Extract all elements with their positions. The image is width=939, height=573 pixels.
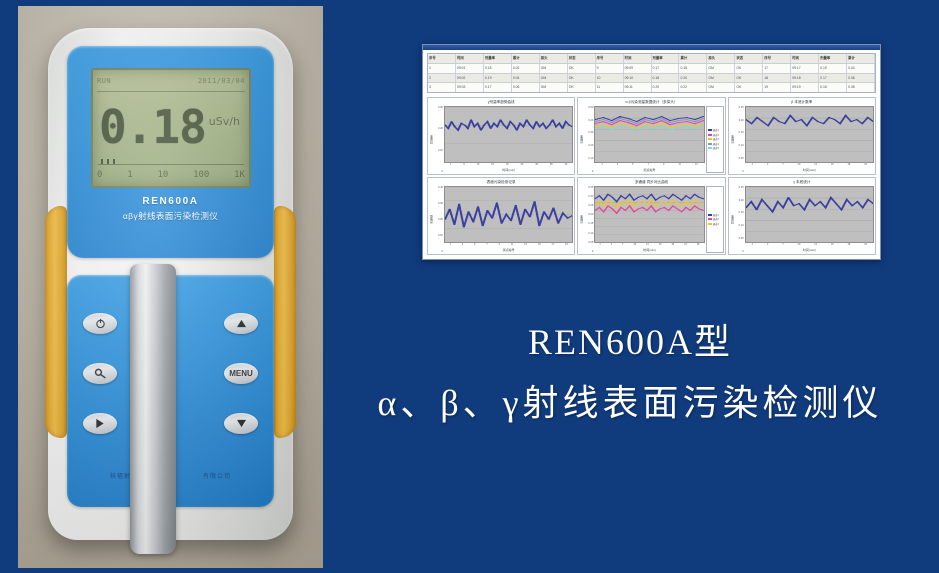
chart-legend: 通道1通道2通道3: [706, 186, 724, 253]
power-icon: [95, 318, 106, 329]
lcd-status-left: RUN: [97, 77, 111, 85]
lcd-bargraph: [98, 160, 244, 165]
table-cell: 9: [596, 64, 624, 73]
legend-item: 通道2: [708, 217, 722, 221]
chart-title: γ剂量率趋势曲线: [429, 99, 573, 106]
table-header-cell: 序号: [763, 54, 791, 63]
chart-y-ticks: 0.300.200.100: [434, 106, 444, 173]
table-cell: 0.02: [512, 64, 540, 73]
legend-label: 通道2: [713, 217, 719, 221]
table-cell: 0.19: [819, 64, 847, 73]
table-cell: 1: [428, 64, 456, 73]
table-cell: GM: [540, 83, 568, 92]
table-cell: 0.20: [679, 74, 707, 83]
search-button[interactable]: [83, 363, 117, 384]
legend-swatch: [708, 218, 712, 220]
chart-plot-area: [594, 106, 704, 163]
chart-y-ticks: 0.350.300.250.200.150.100.050: [584, 186, 594, 253]
table-header-cell: 累计: [512, 54, 540, 63]
table-cell: 09:01: [456, 64, 484, 73]
chart-y-ticks: 0.500.400.300.200.100: [584, 106, 594, 173]
lcd-scale-tick: 100: [193, 170, 209, 180]
chart-y-tick: 0.50: [584, 106, 593, 109]
chart-y-tick: 0.10: [584, 157, 593, 160]
device-model-name: REN600A: [67, 196, 274, 207]
chart-y-tick: 0: [584, 250, 593, 253]
chart-y-tick: 0.30: [584, 195, 593, 198]
table-header-cell: 状态: [568, 54, 596, 63]
table-cell: 09:18: [791, 74, 819, 83]
table-header-cell: 剂量率: [819, 54, 847, 63]
table-row: 309:030.170.06GMOK1109:110.200.22GMOK190…: [428, 83, 875, 92]
table-cell: 11: [596, 83, 624, 92]
triangle-up-icon: [236, 319, 247, 328]
table-cell: 0.18: [652, 74, 680, 83]
chart-y-tick: 0.20: [434, 127, 443, 130]
chart-y-tick: 0.10: [434, 149, 443, 152]
device-body: RUN 2011/03/04 0.18 uSv/h 0: [48, 28, 293, 540]
table-header-cell: 剂量率: [652, 54, 680, 63]
caption-line-model: REN600A型: [330, 320, 930, 365]
chart-y-ticks: 0.250.200.150.100.050: [735, 186, 745, 253]
table-cell: OK: [568, 64, 596, 73]
table-cell: 09:02: [456, 74, 484, 83]
legend-swatch: [708, 134, 712, 136]
chart-title: 表面污染检测记录: [429, 179, 573, 186]
chart-grid: γ剂量率趋势曲线剂量率0.300.200.1001510152025303540…: [423, 95, 880, 259]
legend-label: 通道3: [713, 222, 719, 226]
legend-label: 通道5: [713, 146, 719, 150]
chart-y-tick: 0.05: [735, 157, 744, 160]
chart-y-tick: 0: [735, 170, 744, 173]
chart-plot-area: [745, 186, 874, 243]
chart-y-axis-label: 污染值: [429, 186, 434, 253]
table-cell: 0.18: [679, 64, 707, 73]
legend-item: 通道1: [708, 128, 722, 132]
table-cell: 09:09: [624, 64, 652, 73]
chart-y-tick: 0.20: [735, 119, 744, 122]
legend-label: 通道1: [713, 128, 719, 132]
table-cell: 0.17: [652, 64, 680, 73]
table-cell: 19: [763, 83, 791, 92]
table-header-cell: 序号: [428, 54, 456, 63]
table-header-row: 序号时间剂量率累计探头状态序号时间剂量率累计探头状态序号时间剂量率累计: [428, 54, 875, 64]
chart-panel: 多通道 同步对比曲线计数率0.350.300.250.200.150.100.0…: [577, 177, 725, 255]
table-header-cell: 探头: [540, 54, 568, 63]
chart-y-tick: 0.30: [584, 131, 593, 134]
product-photo: RUN 2011/03/04 0.18 uSv/h 0: [18, 6, 323, 568]
chart-y-tick: 0.40: [584, 119, 593, 122]
device-handle: [130, 264, 176, 554]
lcd-scale-tick: 0: [97, 170, 102, 180]
table-cell: 0.18: [819, 83, 847, 92]
table-cell: 0.38: [847, 83, 875, 92]
legend-label: 通道2: [713, 133, 719, 137]
power-button[interactable]: [83, 313, 117, 334]
chart-plot-area: [594, 186, 704, 243]
legend-item: 通道3: [708, 137, 722, 141]
chart-y-tick: 0.15: [735, 211, 744, 214]
table-header-cell: 累计: [679, 54, 707, 63]
table-header-cell: 状态: [735, 54, 763, 63]
chart-y-tick: 0.05: [735, 237, 744, 240]
chart-y-tick: 0.25: [735, 186, 744, 189]
chart-y-tick: 0: [584, 170, 593, 173]
play-button[interactable]: [83, 413, 117, 434]
chart-y-tick: 0: [735, 250, 744, 253]
triangle-right-icon: [95, 418, 105, 429]
table-cell: OK: [568, 74, 596, 83]
table-header-cell: 时间: [456, 54, 484, 63]
legend-label: 通道4: [713, 142, 719, 146]
legend-swatch: [708, 138, 712, 140]
legend-label: 通道1: [713, 213, 719, 217]
legend-swatch: [708, 214, 712, 216]
legend-swatch: [708, 143, 712, 145]
magnifier-icon: [94, 368, 107, 379]
lcd-divider: [97, 91, 245, 92]
legend-item: 通道1: [708, 213, 722, 217]
chart-y-tick: 0.25: [584, 204, 593, 207]
legend-swatch: [708, 147, 712, 149]
legend-item: 通道4: [708, 142, 722, 146]
table-cell: GM: [540, 64, 568, 73]
legend-item: 通道3: [708, 222, 722, 226]
chart-y-tick: 0: [434, 250, 443, 253]
table-cell: OK: [735, 74, 763, 83]
caption-block: REN600A型 α、β、γ射线表面污染检测仪: [330, 320, 930, 428]
device-grip-left: [45, 206, 67, 438]
legend-swatch: [708, 129, 712, 131]
chart-y-tick: 0.20: [584, 144, 593, 147]
chart-y-ticks: 0.250.200.150.100.050: [735, 106, 745, 173]
table-header-cell: 时间: [624, 54, 652, 63]
lcd-unit: uSv/h: [209, 115, 240, 128]
table-cell: 09:19: [791, 83, 819, 92]
chart-y-tick: 0.05: [584, 241, 593, 244]
chart-panel: γ剂量率趋势曲线剂量率0.300.200.1001510152025303540…: [427, 97, 575, 175]
chart-y-tick: 0.20: [434, 218, 443, 221]
table-cell: 0.17: [484, 83, 512, 92]
table-cell: 0.19: [484, 74, 512, 83]
chart-x-axis-label: 时间(min): [745, 248, 874, 253]
table-header-cell: 时间: [791, 54, 819, 63]
table-cell: 09:10: [624, 74, 652, 83]
table-cell: OK: [735, 64, 763, 73]
slide-root: RUN 2011/03/04 0.18 uSv/h 0: [0, 0, 939, 573]
table-row: 209:020.190.04GMOK1009:100.180.20GMOK180…: [428, 74, 875, 84]
table-cell: GM: [540, 74, 568, 83]
chart-x-axis-label: 时间(min): [444, 168, 573, 173]
chart-panel: α β污染测量数据统计（多探头）计数率0.500.400.300.200.100…: [577, 97, 725, 175]
chart-plot-area: [745, 106, 874, 163]
chart-y-tick: 0.30: [434, 202, 443, 205]
table-cell: OK: [735, 83, 763, 92]
table-cell: 18: [763, 74, 791, 83]
chart-y-axis-label: 剂量率: [429, 106, 434, 173]
chart-x-axis-label: 测点编号: [594, 168, 704, 173]
chart-y-tick: 0.20: [735, 199, 744, 202]
table-cell: 0.04: [512, 74, 540, 83]
chart-y-tick: 0.25: [735, 106, 744, 109]
lcd-reading: 0.18 uSv/h: [99, 96, 245, 158]
chart-y-ticks: 0.400.300.200.100: [434, 186, 444, 253]
chart-plot-area: [444, 186, 573, 243]
table-header-cell: 累计: [847, 54, 875, 63]
chart-y-axis-label: 计数率: [579, 106, 584, 173]
chart-x-axis-label: 时间(min): [745, 168, 874, 173]
chart-title: 多通道 同步对比曲线: [579, 179, 723, 186]
chart-y-tick: 0: [434, 170, 443, 173]
chart-y-tick: 0.10: [434, 234, 443, 237]
chart-y-axis-label: 剂量率: [730, 186, 735, 253]
lcd-status-right: 2011/03/04: [198, 77, 245, 85]
table-header-cell: 序号: [596, 54, 624, 63]
chart-y-tick: 0.15: [735, 131, 744, 134]
table-cell: 0.06: [512, 83, 540, 92]
chart-plot-area: [444, 106, 573, 163]
chart-title: γ 本底统计: [730, 179, 874, 186]
chart-y-tick: 0.40: [434, 186, 443, 189]
table-cell: 0.17: [819, 74, 847, 83]
software-titlebar: [423, 45, 880, 50]
table-cell: 0.22: [679, 83, 707, 92]
chart-y-tick: 0.35: [584, 186, 593, 189]
table-cell: OK: [568, 83, 596, 92]
chart-panel: γ 本底统计剂量率0.250.200.150.100.0501471013161…: [728, 177, 876, 255]
table-cell: 0.20: [652, 83, 680, 92]
chart-y-tick: 0.10: [735, 144, 744, 147]
down-button[interactable]: [224, 413, 258, 434]
table-cell: 3: [428, 83, 456, 92]
device-front-panel-top: RUN 2011/03/04 0.18 uSv/h 0: [67, 46, 274, 258]
lcd-scale-tick: 1K: [234, 170, 245, 180]
table-cell: 09:11: [624, 83, 652, 92]
table-cell: GM: [707, 83, 735, 92]
chart-y-axis-label: 计数率: [579, 186, 584, 253]
table-cell: 0.36: [847, 74, 875, 83]
table-header-cell: 剂量率: [484, 54, 512, 63]
chart-x-axis-label: 测点编号: [444, 248, 573, 253]
chart-legend: 通道1通道2通道3通道4通道5: [706, 106, 724, 173]
chart-y-tick: 0.10: [735, 224, 744, 227]
data-table: 序号时间剂量率累计探头状态序号时间剂量率累计探头状态序号时间剂量率累计 109:…: [427, 53, 876, 93]
chart-y-tick: 0.20: [584, 213, 593, 216]
up-button[interactable]: [224, 313, 258, 334]
lcd-scale-tick: 10: [157, 170, 168, 180]
table-cell: 09:17: [791, 64, 819, 73]
lcd-scale-tick: 1: [127, 170, 132, 180]
table-cell: 0.18: [484, 64, 512, 73]
caption-line-description: α、β、γ射线表面污染检测仪: [330, 379, 930, 428]
lcd-value: 0.18: [99, 104, 206, 150]
chart-title: β 本底计数率: [730, 99, 874, 106]
chart-y-tick: 0.30: [434, 106, 443, 109]
chart-panel: β 本底计数率计数率0.250.200.150.100.050147101316…: [728, 97, 876, 175]
menu-button[interactable]: MENU: [224, 363, 258, 384]
table-cell: 0.34: [847, 64, 875, 73]
software-screenshot-panel: 序号时间剂量率累计探头状态序号时间剂量率累计探头状态序号时间剂量率累计 109:…: [422, 44, 881, 260]
table-cell: GM: [707, 64, 735, 73]
lcd-scale: 0 1 10 100 1K: [97, 168, 245, 182]
legend-label: 通道3: [713, 137, 719, 141]
lcd-status-row: RUN 2011/03/04: [97, 73, 245, 89]
chart-y-axis-label: 计数率: [730, 106, 735, 173]
legend-swatch: [708, 223, 712, 225]
device-footer-right: 有限公司: [203, 471, 231, 480]
device-model-description: αβγ射线表面污染检测仪: [67, 210, 274, 222]
table-cell: 17: [763, 64, 791, 73]
device-model-block: REN600A αβγ射线表面污染检测仪: [67, 196, 274, 222]
lcd-display: RUN 2011/03/04 0.18 uSv/h 0: [91, 68, 251, 188]
legend-item: 通道5: [708, 146, 722, 150]
triangle-down-icon: [236, 419, 247, 428]
table-cell: GM: [707, 74, 735, 83]
table-cell: 10: [596, 74, 624, 83]
device-grip-right: [274, 206, 296, 438]
table-cell: 2: [428, 74, 456, 83]
chart-x-axis-label: 时间(min): [594, 248, 704, 253]
chart-y-tick: 0.15: [584, 222, 593, 225]
chart-title: α β污染测量数据统计（多探头）: [579, 99, 723, 106]
table-row: 109:010.180.02GMOK909:090.170.18GMOK1709…: [428, 64, 875, 74]
table-cell: 09:03: [456, 83, 484, 92]
legend-item: 通道2: [708, 133, 722, 137]
chart-y-tick: 0.10: [584, 232, 593, 235]
chart-panel: 表面污染检测记录污染值0.400.300.200.100135791113151…: [427, 177, 575, 255]
table-header-cell: 探头: [707, 54, 735, 63]
